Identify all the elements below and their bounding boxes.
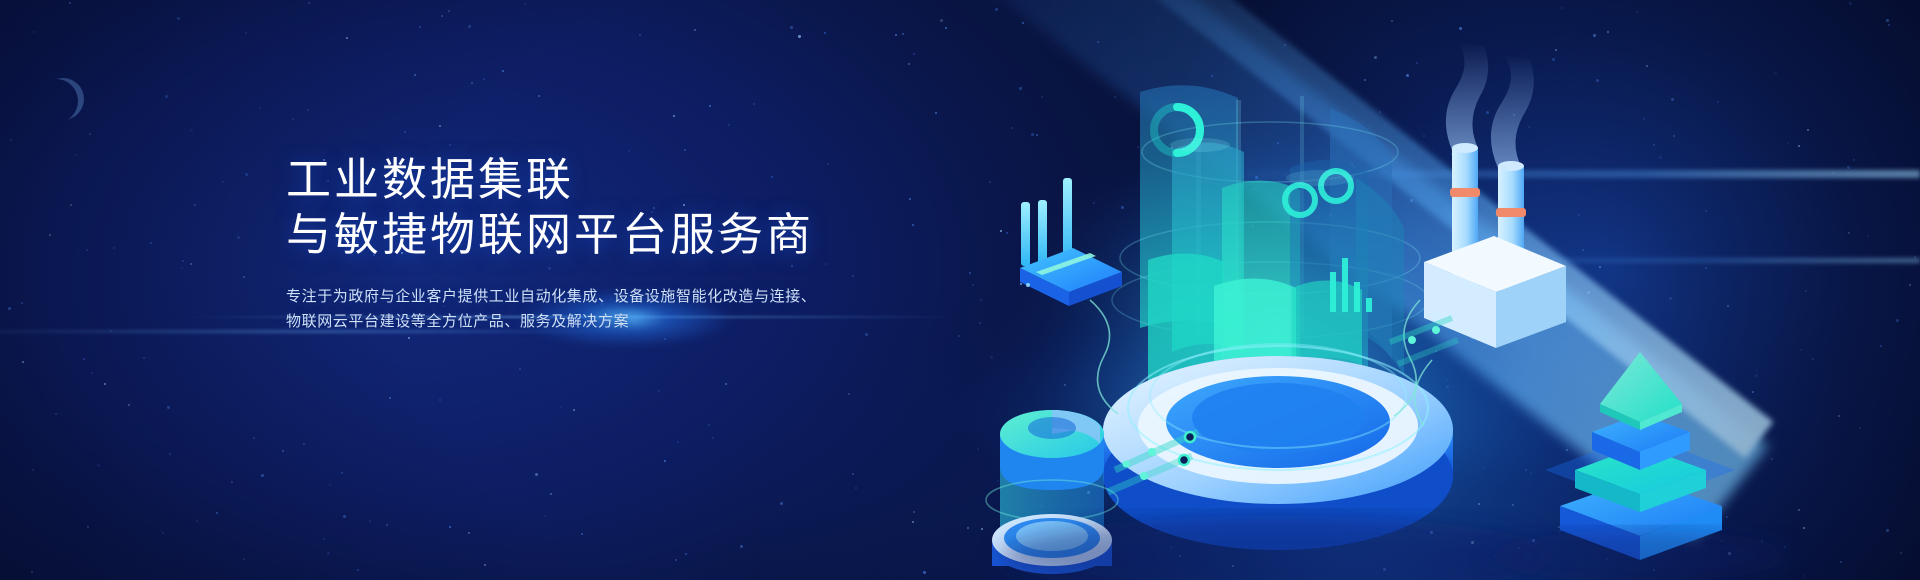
hero-copy: 工业数据集联 与敏捷物联网平台服务商 专注于为政府与企业客户提供工业自动化集成、… [286,152,926,334]
headline-line-1: 工业数据集联 [286,152,926,207]
subtitle-line-2: 物联网云平台建设等全方位产品、服务及解决方案 [286,309,926,334]
hero-banner: 工业数据集联 与敏捷物联网平台服务商 专注于为政府与企业客户提供工业自动化集成、… [0,0,1920,580]
hero-subtitle: 专注于为政府与企业客户提供工业自动化集成、设备设施智能化改造与连接、 物联网云平… [286,284,926,334]
subtitle-line-1: 专注于为政府与企业客户提供工业自动化集成、设备设施智能化改造与连接、 [286,284,926,309]
headline-line-2: 与敏捷物联网平台服务商 [286,207,926,262]
